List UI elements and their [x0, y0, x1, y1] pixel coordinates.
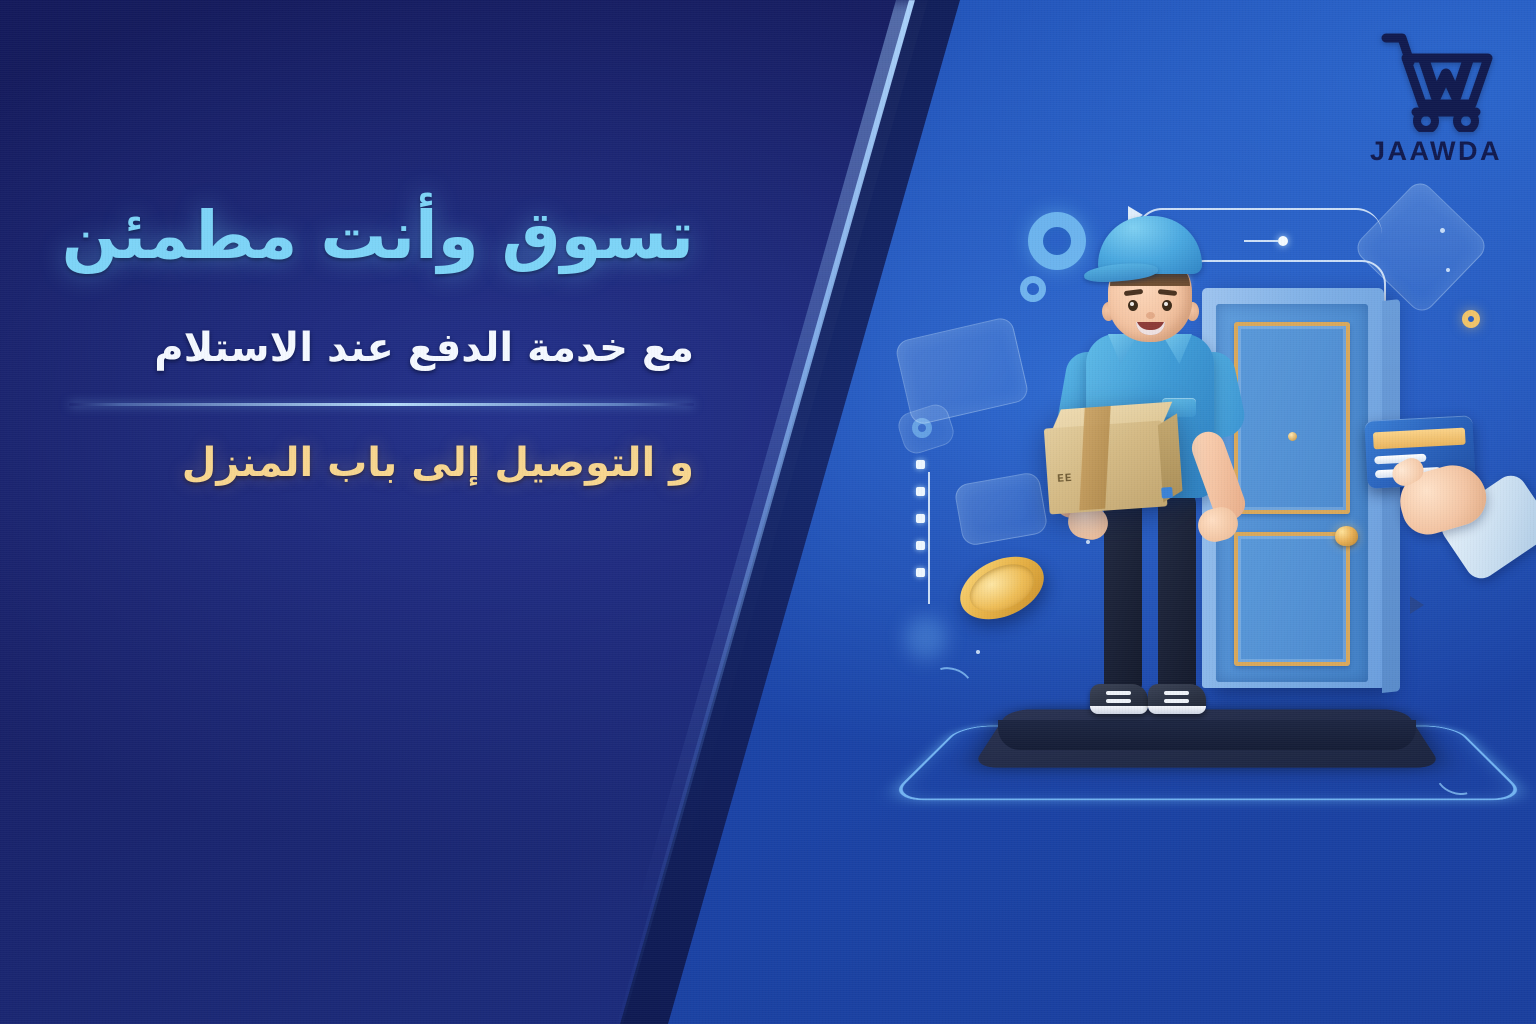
eye-left [1128, 300, 1138, 311]
gold-coin [950, 545, 1053, 632]
sparkle-dot [1440, 228, 1445, 233]
door-knob [1335, 526, 1358, 546]
door-peephole [1288, 432, 1297, 441]
cardboard-parcel: EE [1043, 402, 1182, 515]
glass-card-shape [953, 471, 1048, 547]
sneaker-right [1148, 684, 1206, 714]
marketing-copy: تسوق وأنت مطمئن مع خدمة الدفع عند الاستل… [0, 196, 712, 488]
parcel-tape [1079, 406, 1110, 510]
sparkle-dot [976, 650, 980, 654]
gold-ring-icon [1462, 310, 1480, 328]
floor-triangle-icon [1410, 596, 1424, 614]
subline-cash-on-delivery: مع خدمة الدفع عند الاستلام [0, 323, 694, 373]
card-magnetic-stripe [1373, 428, 1466, 450]
nose [1146, 312, 1155, 319]
decor-dash-dot [1278, 236, 1288, 246]
parcel-label: EE [1057, 473, 1073, 486]
promo-banner: تسوق وأنت مطمئن مع خدمة الدفع عند الاستل… [0, 0, 1536, 1024]
headline: تسوق وأنت مطمئن [0, 196, 694, 277]
floor-accent-arc [929, 662, 975, 699]
glossy-ring-medium [1020, 276, 1046, 302]
illustration-scene: EE [880, 20, 1536, 1024]
sneaker-left [1090, 684, 1148, 714]
eye-right [1162, 300, 1172, 311]
vertical-guide-line [928, 472, 930, 604]
floor-accent-arc [1433, 762, 1479, 800]
sparkle-dot [1446, 268, 1450, 272]
text-divider-rule [69, 403, 694, 406]
courier-legs [1102, 488, 1198, 700]
subline-home-delivery: و التوصيل إلى باب المنزل [0, 438, 694, 488]
tick-dots-column [916, 460, 925, 577]
parcel-sticker [1161, 487, 1173, 499]
light-blob [904, 616, 948, 660]
